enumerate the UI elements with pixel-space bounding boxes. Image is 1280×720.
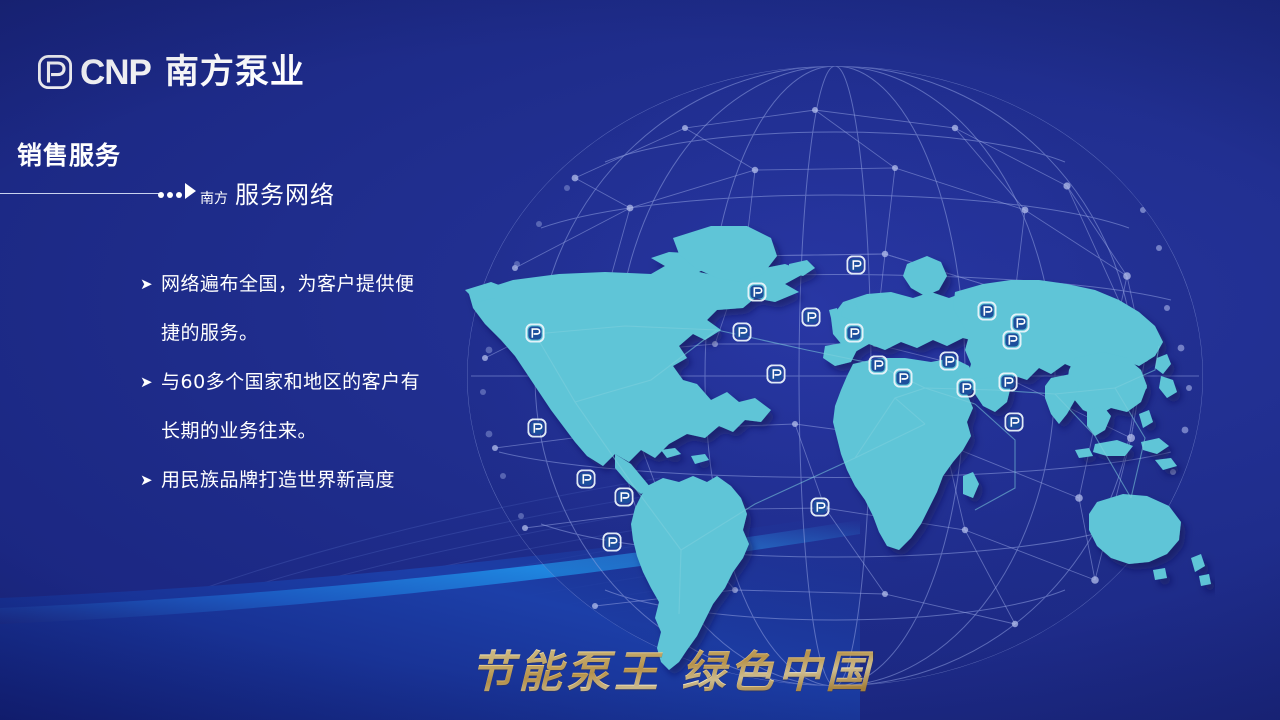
slogan-text: 节能泵王 绿色中国 xyxy=(470,636,873,700)
subtitle-prefix: 南方 xyxy=(200,188,228,208)
leading-dots-icon xyxy=(158,192,182,198)
section-subtitle-bar: 南方 服务网络 xyxy=(158,175,335,205)
subtitle-text: 服务网络 xyxy=(235,175,335,210)
list-item: ➤ 与60多个国家和地区的客户有 长期的业务往来。 xyxy=(140,358,470,456)
bullet-line: 长期的业务往来。 xyxy=(156,407,470,456)
play-triangle-icon xyxy=(185,183,196,199)
bullet-line: 用民族品牌打造世界新高度 xyxy=(156,456,470,505)
list-item: ➤ 用民族品牌打造世界新高度 xyxy=(140,456,470,505)
brand-logo: CNP 南方泵业 xyxy=(38,52,305,92)
bullet-list: ➤ 网络遍布全国，为客户提供便 捷的服务。 ➤ 与60多个国家和地区的客户有 长… xyxy=(140,260,470,505)
bullet-arrow-icon: ➤ xyxy=(140,456,153,505)
list-item: ➤ 网络遍布全国，为客户提供便 捷的服务。 xyxy=(140,260,470,358)
bullet-line: 捷的服务。 xyxy=(156,309,470,358)
page-title: 销售服务 xyxy=(17,140,121,171)
title-divider-rule xyxy=(0,193,160,194)
logo-chinese-text: 南方泵业 xyxy=(165,55,305,89)
bullet-arrow-icon: ➤ xyxy=(140,260,153,309)
logo-latin-text: CNP xyxy=(80,55,151,90)
gold-slogan: 节能泵王 绿色中国 xyxy=(470,637,820,699)
cnp-p-mark-icon xyxy=(38,55,72,89)
presentation-slide: CNP 南方泵业 销售服务 南方 服务网络 ➤ 网络遍布全国，为客户提供便 捷的… xyxy=(0,0,1280,720)
bullet-line: 网络遍布全国，为客户提供便 xyxy=(156,260,470,309)
bullet-arrow-icon: ➤ xyxy=(140,358,153,407)
bullet-line: 与60多个国家和地区的客户有 xyxy=(156,358,470,407)
